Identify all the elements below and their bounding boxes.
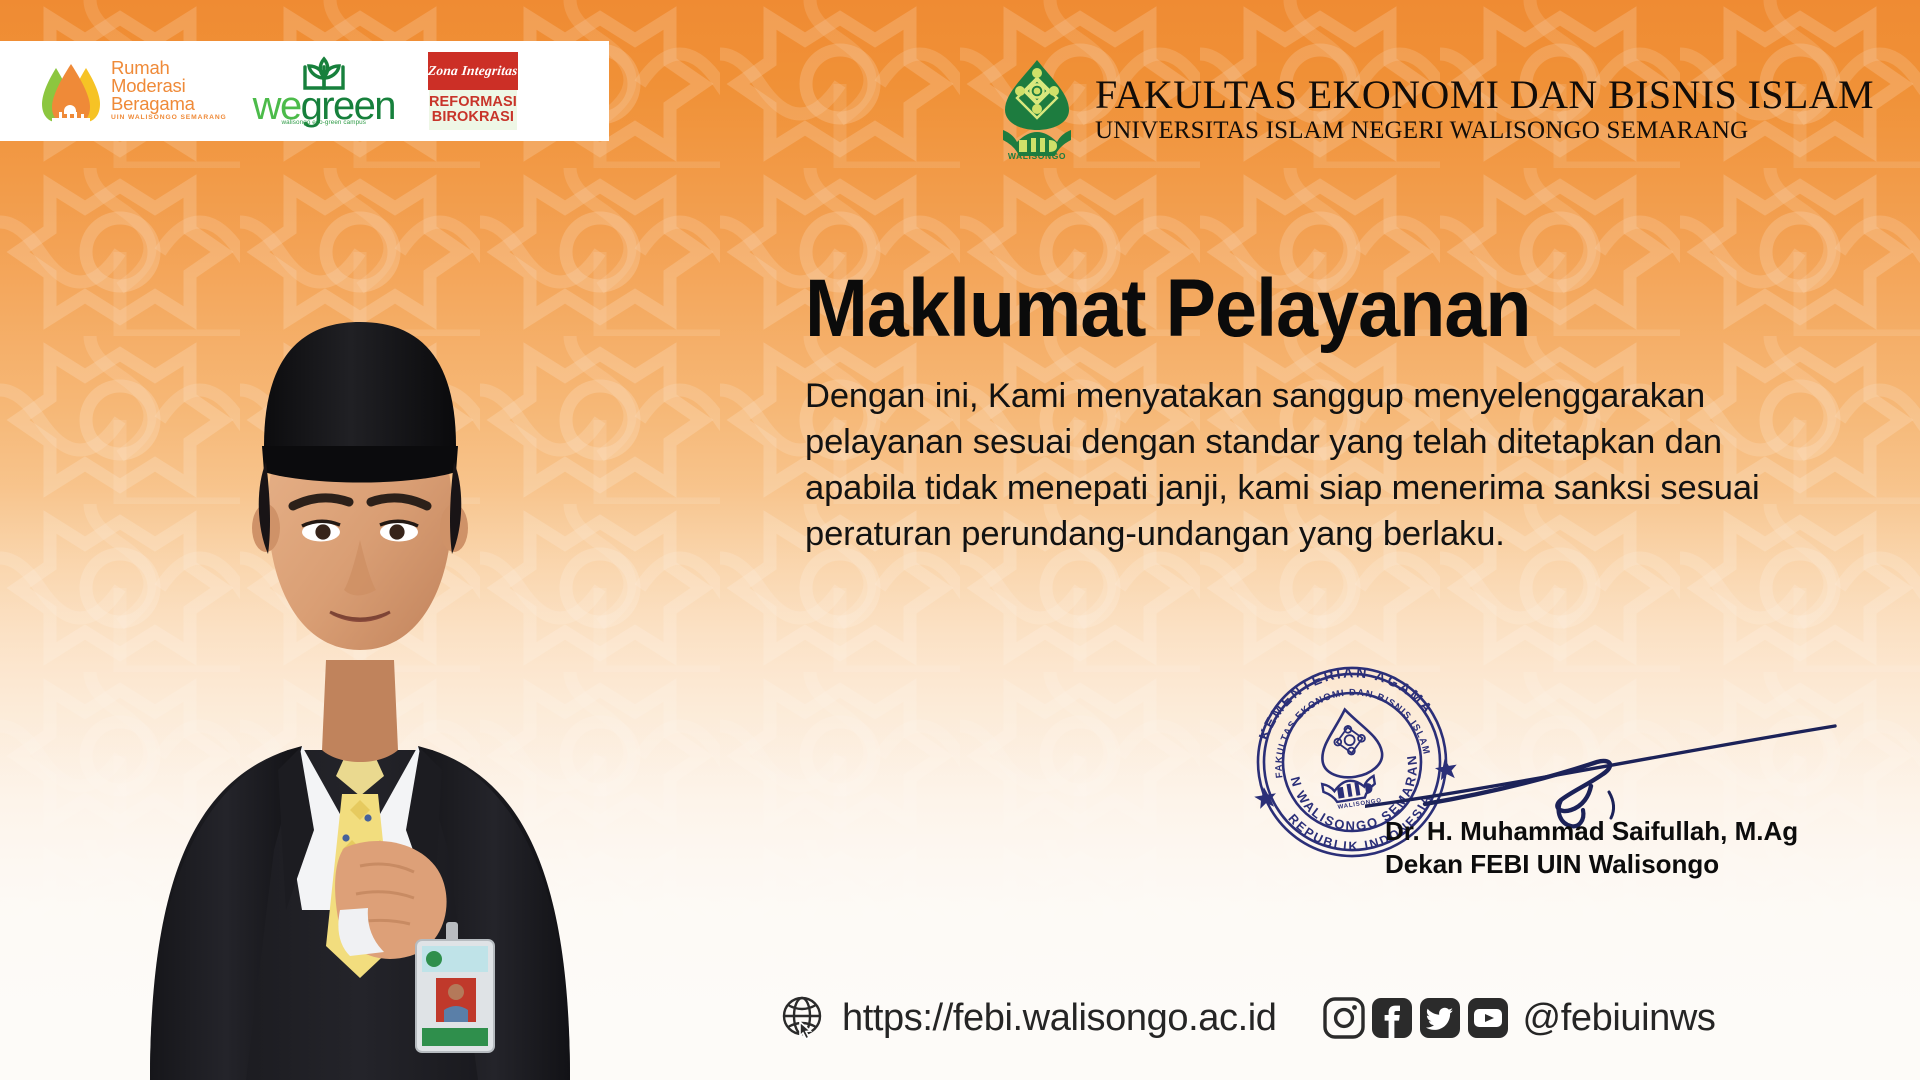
faculty-subtitle: UNIVERSITAS ISLAM NEGERI WALISONGO SEMAR… bbox=[1095, 118, 1874, 144]
reformasi-line-1: REFORMASI bbox=[429, 95, 517, 110]
social-group[interactable]: @febiuinws bbox=[1323, 997, 1716, 1039]
twitter-icon[interactable] bbox=[1419, 997, 1461, 1039]
wegreen-tagline: walisongo eco-green campus bbox=[282, 119, 367, 126]
globe-click-icon bbox=[780, 994, 828, 1042]
signature-block: KEMENTERIAN AGAMA FAKULTAS EKONOMI DAN B… bbox=[1245, 655, 1865, 905]
page-title: Maklumat Pelayanan bbox=[805, 268, 1780, 350]
youtube-icon[interactable] bbox=[1467, 997, 1509, 1039]
teardrop-mosque-mark-icon bbox=[40, 56, 102, 126]
faculty-lockup: WALISONGO FAKULTAS EKONOMI DAN BISNIS IS… bbox=[993, 58, 1874, 162]
logo-wegreen: wegreen walisongo eco-green campus bbox=[253, 56, 395, 127]
social-handle[interactable]: @febiuinws bbox=[1523, 999, 1716, 1037]
declaration-text: Dengan ini, Kami menyatakan sanggup meny… bbox=[805, 374, 1815, 558]
rmb-line-2: Moderasi bbox=[111, 77, 227, 95]
maklumat-pelayanan-banner: Rumah Moderasi Beragama UIN WALISONGO SE… bbox=[0, 0, 1920, 1080]
instagram-icon[interactable] bbox=[1323, 997, 1365, 1039]
website-group[interactable]: https://febi.walisongo.ac.id bbox=[780, 994, 1277, 1042]
footer-bar: https://febi.walisongo.ac.id bbox=[780, 994, 1716, 1042]
facebook-icon[interactable] bbox=[1371, 997, 1413, 1039]
logo-rumah-moderasi-beragama: Rumah Moderasi Beragama UIN WALISONGO SE… bbox=[40, 56, 227, 126]
uin-walisongo-crest-icon: WALISONGO bbox=[993, 58, 1081, 162]
signatory-name: Dr. H. Muhammad Saifullah, M.Ag bbox=[1385, 815, 1798, 848]
zona-integritas-label: Zona Integritas bbox=[427, 63, 518, 79]
rmb-subtitle: UIN WALISONGO SEMARANG bbox=[111, 115, 227, 121]
logo-zona-integritas: Zona Integritas REFORMASI BIROKRASI bbox=[421, 52, 525, 130]
website-url[interactable]: https://febi.walisongo.ac.id bbox=[842, 999, 1277, 1037]
signatory-position: Dekan FEBI UIN Walisongo bbox=[1385, 848, 1798, 881]
main-content: Maklumat Pelayanan Dengan ini, Kami meny… bbox=[805, 268, 1865, 558]
partner-logo-bar: Rumah Moderasi Beragama UIN WALISONGO SE… bbox=[0, 41, 609, 141]
dean-portrait-photo bbox=[50, 210, 670, 1080]
zona-integritas-banner: Zona Integritas bbox=[428, 52, 518, 90]
faculty-title: FAKULTAS EKONOMI DAN BISNIS ISLAM bbox=[1095, 75, 1874, 116]
rmb-line-3: Beragama bbox=[111, 95, 227, 113]
reformasi-line-2: BIROKRASI bbox=[432, 110, 514, 125]
svg-text:WALISONGO: WALISONGO bbox=[1008, 151, 1066, 161]
reformasi-birokrasi-block: REFORMASI BIROKRASI bbox=[429, 90, 517, 130]
